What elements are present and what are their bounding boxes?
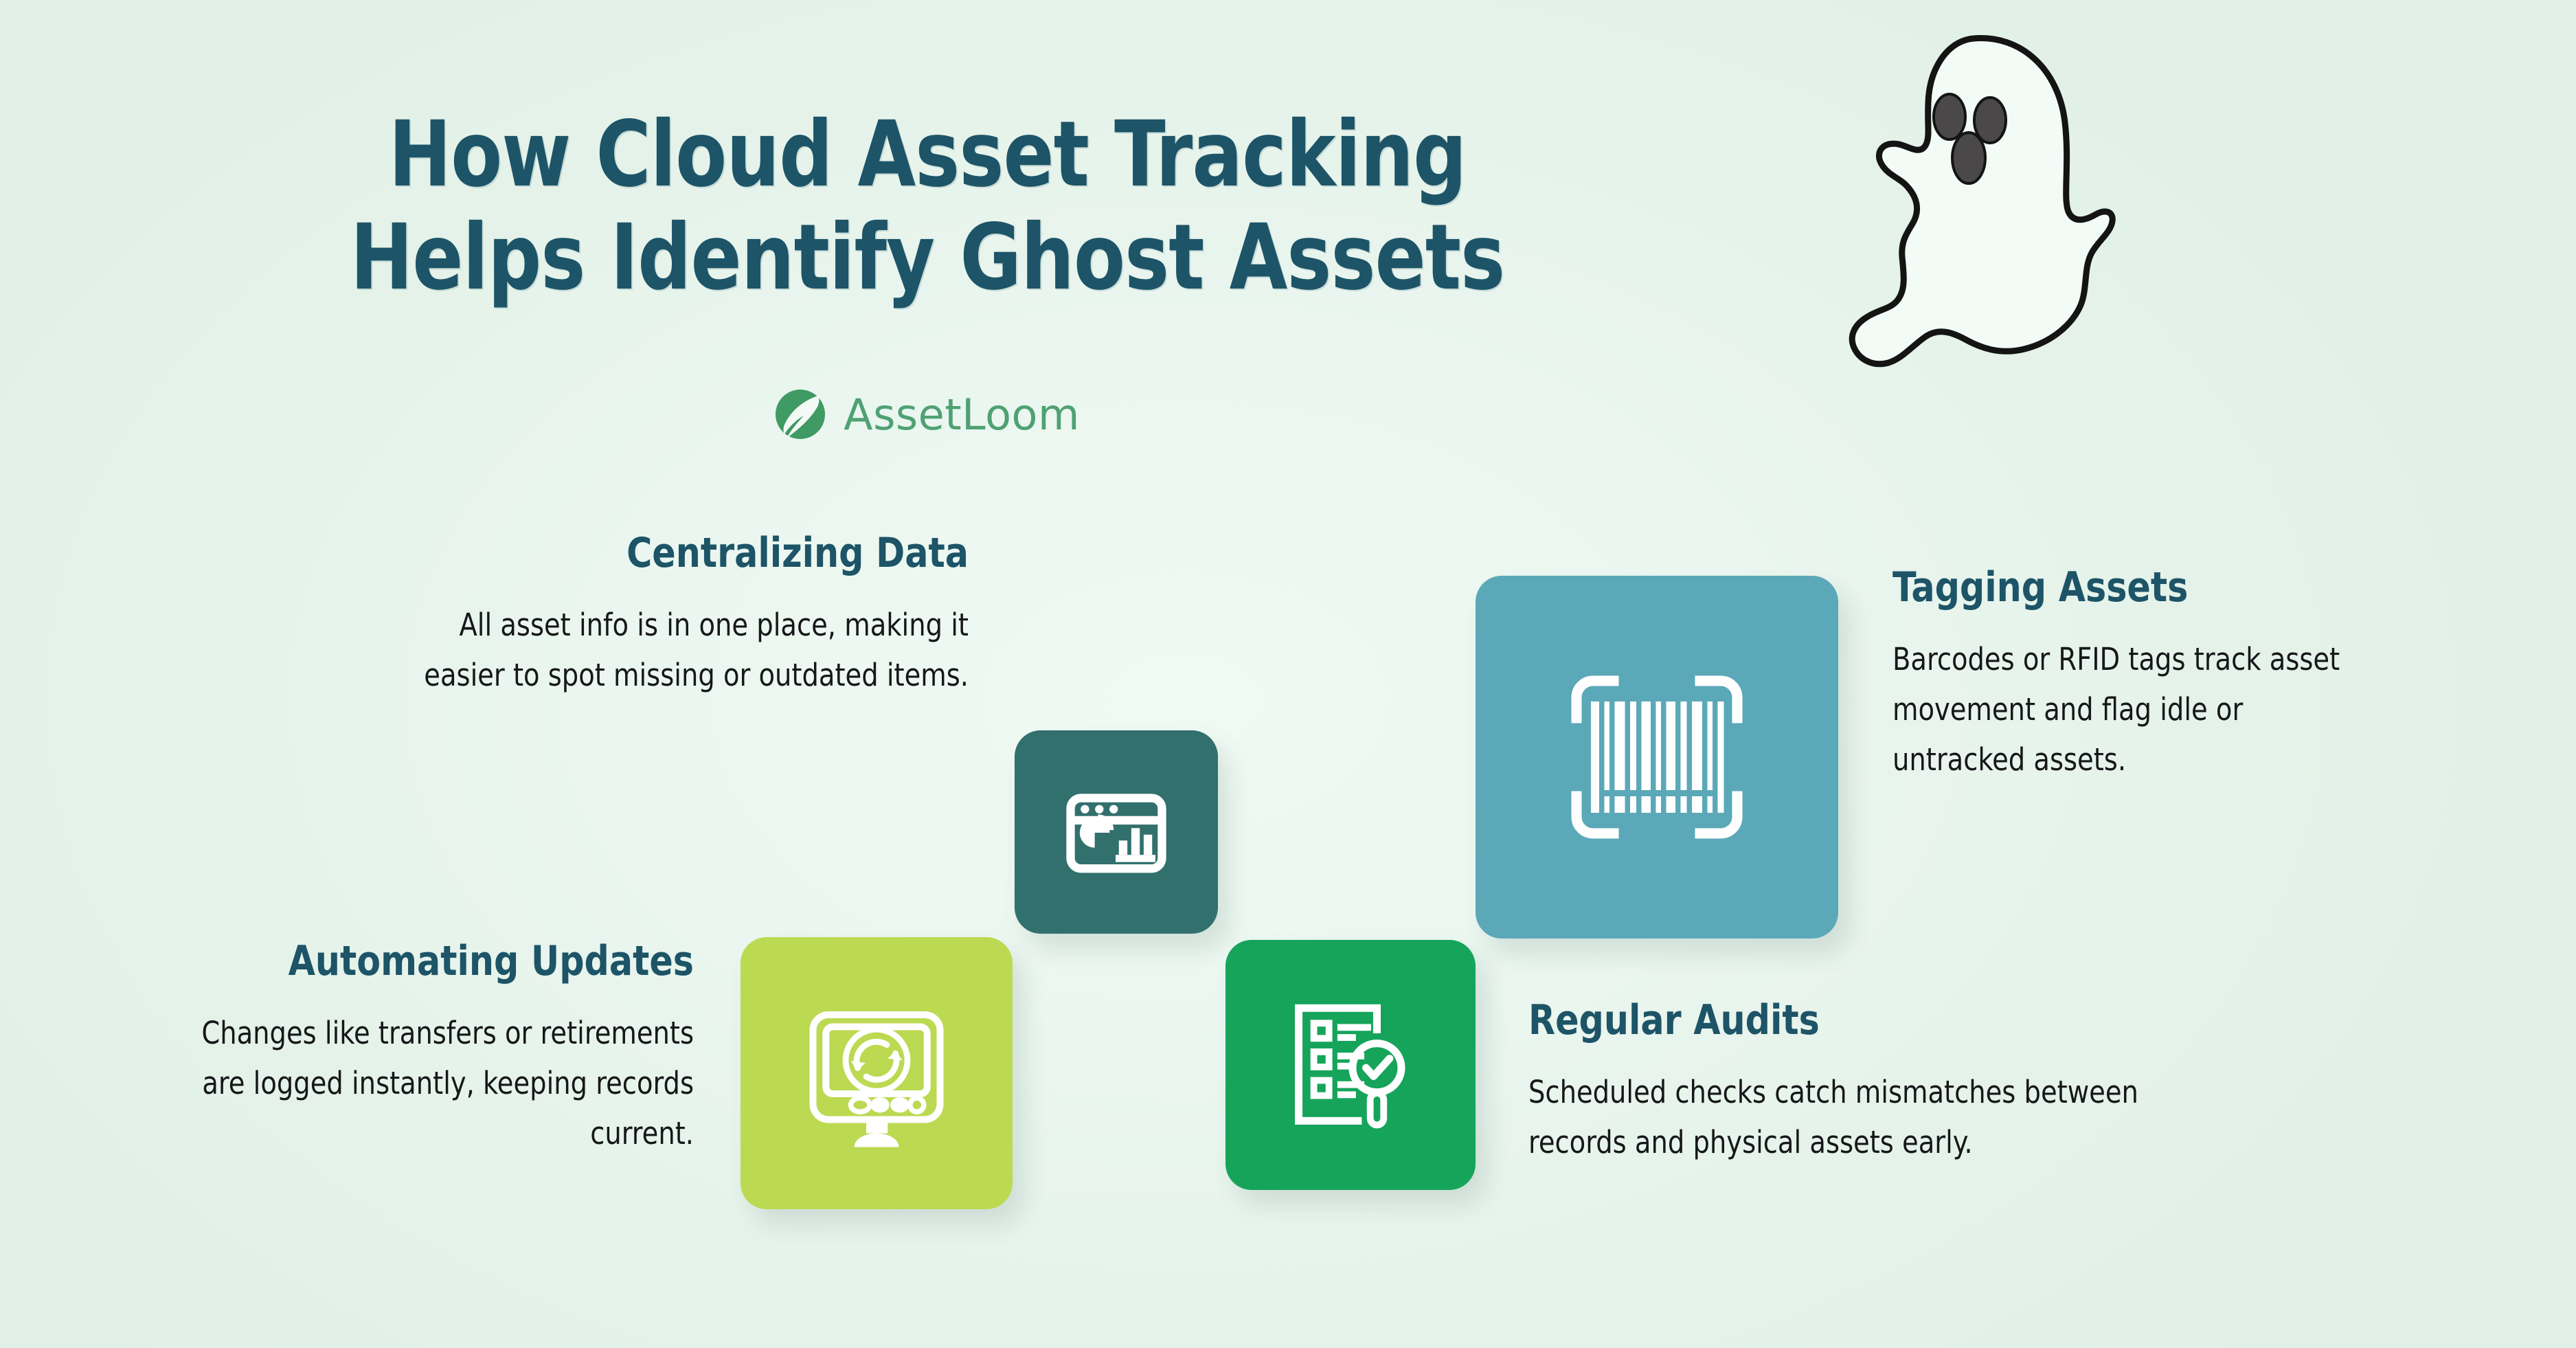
assetloom-leaf-icon [775,389,826,440]
block-body-centralizing: All asset info is in one place, making i… [401,600,969,701]
checklist-magnifier-icon [1267,981,1435,1149]
ghost-mouth [1952,133,1985,183]
tile-centralizing-data[interactable] [1015,730,1218,934]
monitor-sync-icon [791,987,962,1159]
title-line-1: How Cloud Asset Tracking [74,103,1781,206]
block-centralizing-data: Centralizing Data All asset info is in o… [371,530,969,701]
block-tagging-assets: Tagging Assets Barcodes or RFID tags tra… [1893,565,2387,785]
ghost-eye-left [1934,94,1965,139]
block-automating-updates: Automating Updates Changes like transfer… [144,939,694,1159]
dashboard-analytics-icon [1051,767,1182,897]
tile-regular-audits[interactable] [1225,940,1476,1190]
brand-name: AssetLoom [844,390,1080,440]
page-title: How Cloud Asset Tracking Helps Identify … [0,103,1855,310]
block-regular-audits: Regular Audits Scheduled checks catch mi… [1528,998,2215,1168]
ghost-illustration [1803,14,2133,378]
tile-automating-updates[interactable] [741,937,1013,1209]
block-body-tagging: Barcodes or RFID tags track asset moveme… [1893,635,2362,785]
block-heading-centralizing: Centralizing Data [407,530,969,576]
brand-logo: AssetLoom [0,389,1855,440]
barcode-scan-icon [1554,654,1760,860]
block-heading-audits: Regular Audits [1528,998,2174,1043]
block-body-audits: Scheduled checks catch mismatches betwee… [1528,1068,2181,1168]
block-heading-automating: Automating Updates [177,939,694,984]
block-body-automating: Changes like transfers or retirements ar… [172,1009,694,1159]
title-line-2: Helps Identify Ghost Assets [74,206,1781,309]
infographic-canvas: How Cloud Asset Tracking Helps Identify … [0,0,2576,1348]
block-heading-tagging: Tagging Assets [1893,565,2358,610]
tile-tagging-assets[interactable] [1476,576,1838,939]
